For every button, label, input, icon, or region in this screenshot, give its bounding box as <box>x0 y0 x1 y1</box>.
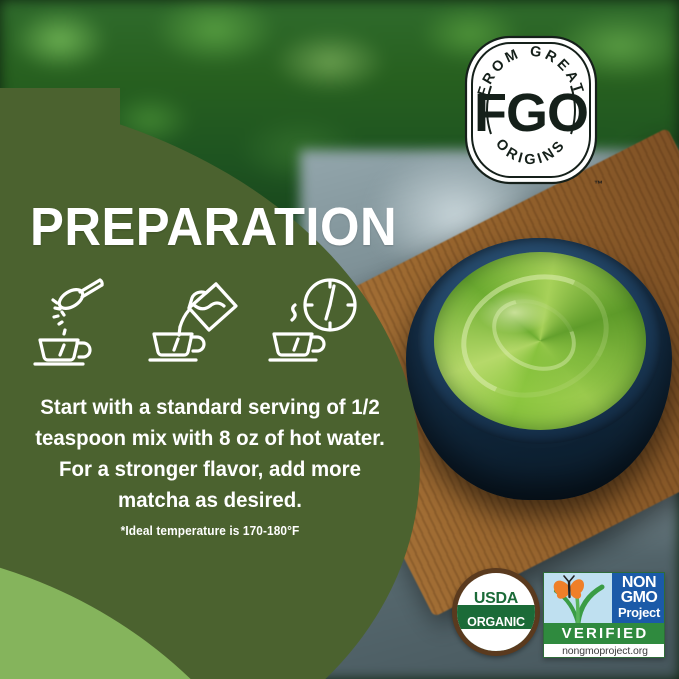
page-title: PREPARATION <box>30 196 397 258</box>
matcha-bowl <box>398 232 679 532</box>
non-gmo-sky-panel <box>544 573 612 623</box>
fgo-brand-logo: FROM GREAT ORIGINS FGO ™ <box>463 34 599 186</box>
usda-organic-badge: USDA ORGANIC <box>452 568 540 656</box>
instruction-line: Start with a standard serving of 1/2 <box>18 392 402 423</box>
organic-label: ORGANIC <box>457 615 535 629</box>
trademark-symbol: ™ <box>594 179 603 189</box>
pour-packet-into-cup-icon <box>144 272 240 368</box>
step-2 <box>144 272 240 368</box>
svg-text:FGO: FGO <box>474 83 588 143</box>
instruction-line: For a stronger flavor, add more <box>18 454 402 485</box>
verified-label: VERIFIED <box>544 623 665 644</box>
temperature-footnote: *Ideal temperature is 170-180°F <box>18 524 402 538</box>
panel-content: PREPARATION <box>0 0 420 679</box>
usda-badge-inner: USDA ORGANIC <box>457 573 535 651</box>
preparation-steps <box>24 272 364 368</box>
step-3 <box>264 272 360 368</box>
non-gmo-url: nongmoproject.org <box>544 644 665 658</box>
usda-label: USDA <box>457 590 535 608</box>
project-label: Project <box>612 605 665 620</box>
product-infographic: PREPARATION <box>0 0 679 679</box>
butterfly-on-grass-icon <box>544 573 612 623</box>
non-gmo-verified-badge: NON GMO Project VERIFIED nongmoproject.o… <box>543 572 665 658</box>
step-1 <box>24 272 120 368</box>
instruction-line: teaspoon mix with 8 oz of hot water. <box>18 423 402 454</box>
steaming-cup-with-clock-icon <box>264 272 360 368</box>
non-gmo-blue-panel: NON GMO Project <box>612 573 665 623</box>
non-gmo-top-panel: NON GMO Project <box>544 573 665 623</box>
fgo-logo-mark: FROM GREAT ORIGINS FGO <box>463 34 599 186</box>
instruction-line: matcha as desired. <box>18 485 402 516</box>
preparation-instructions: Start with a standard serving of 1/2 tea… <box>18 392 402 516</box>
spoon-scoop-into-cup-icon <box>24 272 120 368</box>
